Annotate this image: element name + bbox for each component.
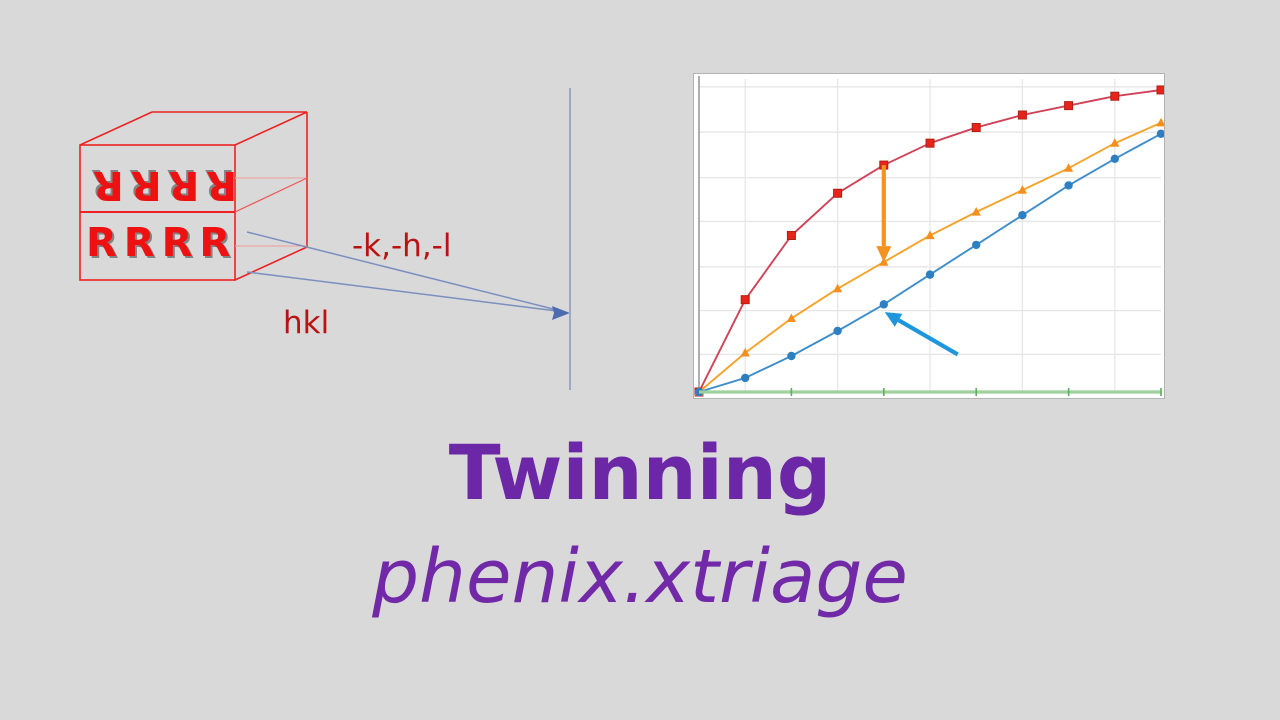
data-point-square: [1157, 86, 1164, 94]
data-point-triangle: [833, 284, 842, 293]
slide-canvas: RRRR RRRR -k,-h,-l hkl Twinning phenix.x…: [0, 0, 1280, 720]
twin-row-letters: RRRR: [86, 162, 237, 208]
data-point-square: [1111, 92, 1119, 100]
data-point-square: [834, 189, 842, 197]
data-point-circle: [741, 374, 749, 382]
box-edge-tl: [80, 112, 152, 145]
data-point-square: [972, 124, 980, 132]
data-point-triangle: [787, 313, 796, 322]
data-point-circle: [1018, 211, 1026, 219]
data-point-circle: [1157, 130, 1164, 138]
data-point-circle: [1064, 181, 1072, 189]
data-point-square: [1065, 102, 1073, 110]
data-point-circle: [787, 352, 795, 360]
leader-arrow-head: [552, 306, 570, 320]
data-point-circle: [972, 241, 980, 249]
label-hkl-index: hkl: [283, 305, 329, 341]
data-point-circle: [880, 300, 888, 308]
annotation-shaft: [899, 320, 958, 354]
data-point-circle: [1111, 155, 1119, 163]
annotation-orange-down-arrow: [876, 165, 891, 262]
label-twin-index: -k,-h,-l: [352, 228, 451, 264]
intensity-distribution-chart: [693, 73, 1165, 399]
data-point-square: [741, 296, 749, 304]
data-point-square: [787, 232, 795, 240]
annotation-blue-left-arrow: [885, 312, 958, 354]
box-inner-line-2: [235, 178, 307, 212]
page-subtitle: phenix.xtriage: [0, 534, 1280, 620]
data-point-circle: [926, 270, 934, 278]
page-title: Twinning: [0, 428, 1280, 517]
data-point-triangle: [1156, 118, 1164, 127]
data-point-triangle: [741, 348, 750, 357]
chart-svg: [694, 74, 1164, 398]
data-point-square: [1018, 111, 1026, 119]
box-edge-tr: [235, 112, 307, 145]
original-row-letters: RRRR: [86, 220, 237, 266]
data-point-circle: [833, 327, 841, 335]
data-point-square: [926, 139, 934, 147]
twinning-box-diagram: RRRR RRRR -k,-h,-l hkl: [0, 60, 620, 410]
